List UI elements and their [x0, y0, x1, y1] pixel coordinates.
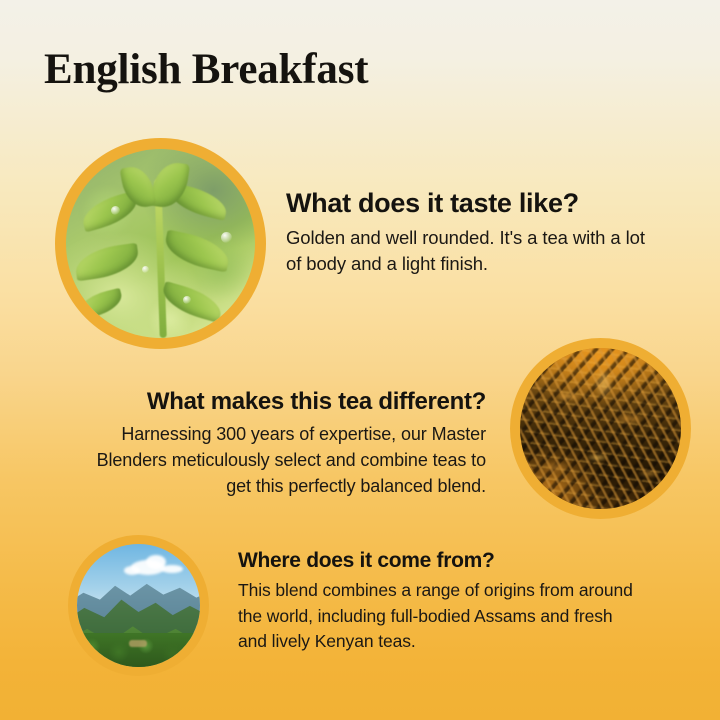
dew-drop — [111, 206, 120, 215]
section-taste: What does it taste like? Golden and well… — [286, 188, 646, 277]
dried-tea-leaves-photo — [520, 348, 681, 509]
section-different: What makes this tea different? Harnessin… — [86, 388, 486, 500]
product-info-poster: English Breakfast — [0, 0, 720, 720]
hillside-clearing — [129, 640, 147, 647]
tea-plant-image — [55, 138, 266, 349]
cloud-icon — [161, 565, 183, 573]
origin-landscape-photo — [77, 544, 200, 667]
dried-tea-leaves-image — [510, 338, 691, 519]
page-title: English Breakfast — [44, 46, 368, 93]
section-taste-heading: What does it taste like? — [286, 188, 646, 220]
tea-plant-photo — [66, 149, 255, 338]
section-different-heading: What makes this tea different? — [86, 388, 486, 417]
section-origin-body: This blend combines a range of origins f… — [238, 578, 638, 654]
section-different-body: Harnessing 300 years of expertise, our M… — [86, 422, 486, 500]
section-origin-heading: Where does it come from? — [238, 548, 638, 573]
origin-landscape-image — [68, 535, 209, 676]
dried-leaves-highlights — [520, 348, 681, 509]
section-taste-body: Golden and well rounded. It's a tea with… — [286, 225, 646, 278]
dew-drop — [142, 266, 149, 273]
section-origin: Where does it come from? This blend comb… — [238, 548, 638, 654]
forest-canopy — [77, 633, 200, 667]
cloud-icon — [124, 566, 140, 575]
